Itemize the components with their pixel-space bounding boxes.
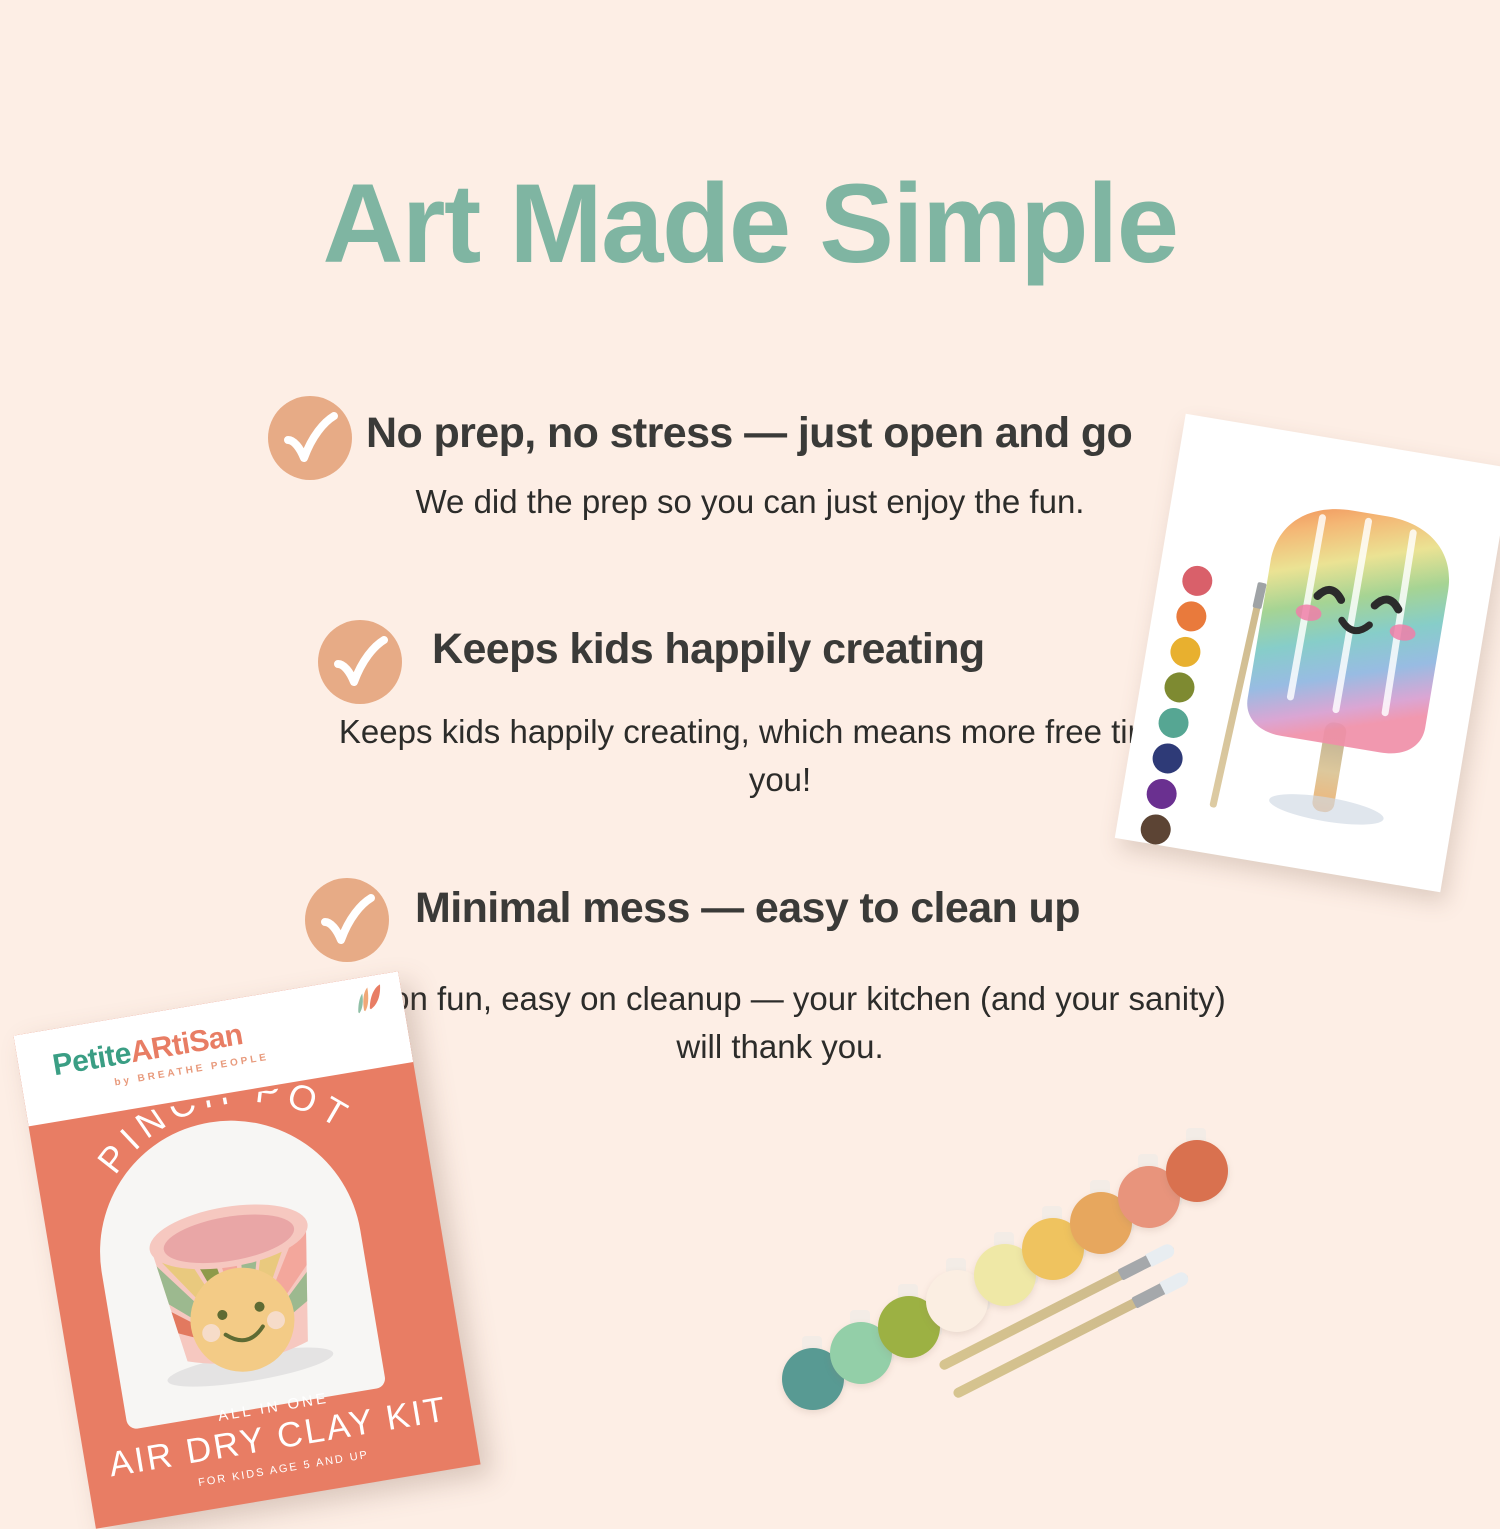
palette-dot <box>1180 564 1215 599</box>
palette-dot <box>1150 741 1185 776</box>
poster-canvas: Art Made Simple No prep, no stress — jus… <box>0 0 1500 1500</box>
benefit-heading: No prep, no stress — just open and go <box>366 409 1132 458</box>
checkmark-icon <box>318 620 402 704</box>
benefit-heading: Minimal mess — easy to clean up <box>415 884 1080 933</box>
palette-dot <box>1174 599 1209 634</box>
paint-brushes <box>940 1240 1220 1440</box>
benefit-subtext: Keeps kids happily creating, which means… <box>330 708 1230 804</box>
product-illustration-window <box>80 1101 386 1430</box>
benefit-subtext: Big on fun, easy on cleanup — your kitch… <box>330 975 1230 1071</box>
paint-brush-icon <box>952 1272 1190 1400</box>
checkmark-icon <box>268 396 352 480</box>
palette-dot <box>1162 670 1197 705</box>
product-box-pinch-pot: PetiteARtiSan by BREATHE PEOPLE PINCH PO… <box>13 971 480 1529</box>
palette-dot <box>1144 777 1179 812</box>
pinch-pot-illustration <box>80 1101 386 1430</box>
palette-dot <box>1168 635 1203 670</box>
checkmark-icon <box>305 878 389 962</box>
popsicle-palette-dots <box>1137 564 1214 853</box>
palette-dot <box>1138 812 1173 847</box>
paint-brush-icon <box>938 1244 1176 1372</box>
paint-pod <box>1166 1140 1228 1202</box>
benefit-heading: Keeps kids happily creating <box>432 625 985 674</box>
popsicle-illustration <box>1208 489 1489 852</box>
benefit-subtext: We did the prep so you can just enjoy th… <box>250 478 1250 526</box>
palette-dot <box>1156 706 1191 741</box>
page-title: Art Made Simple <box>0 168 1500 280</box>
